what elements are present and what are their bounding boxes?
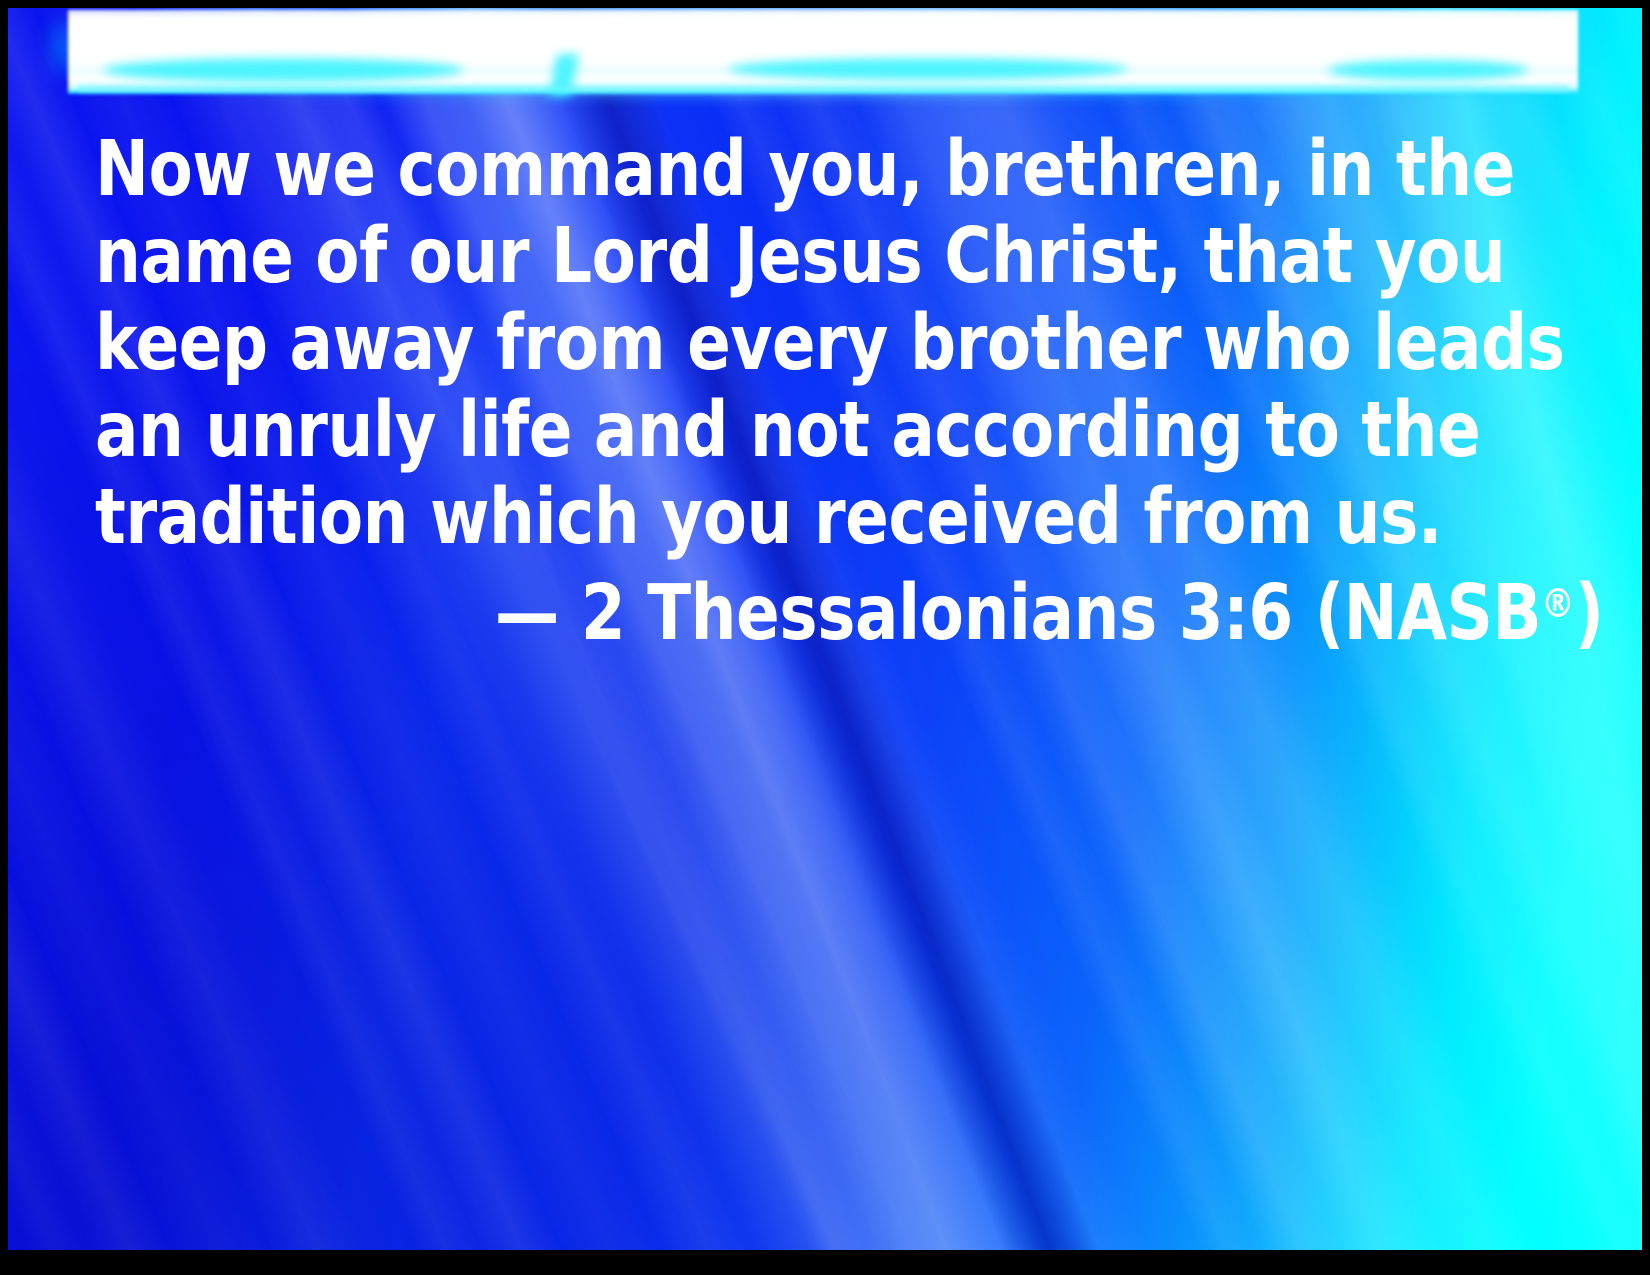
slide-canvas: Now we command you, brethren, in the nam…: [8, 8, 1642, 1250]
verse-citation: — 2 Thessalonians 3:6 (NASB®): [95, 561, 1471, 657]
verse-line-1: Now we command you, brethren, in the: [95, 126, 1471, 213]
verse-line-5: tradition which you received from us.: [95, 474, 1471, 561]
citation-suffix: ): [1575, 569, 1604, 658]
verse-line-3: keep away from every brother who leads: [95, 300, 1471, 387]
verse-slide: Now we command you, brethren, in the nam…: [0, 0, 1650, 1275]
top-band-accent-1: [103, 58, 463, 82]
verse-text-block: Now we command you, brethren, in the nam…: [95, 126, 1575, 657]
top-band-underglow: [78, 86, 1568, 94]
citation-prefix: — 2 Thessalonians 3:6 (NASB: [495, 569, 1541, 658]
verse-line-2: name of our Lord Jesus Christ, that you: [95, 213, 1471, 300]
registered-trademark-icon: ®: [1541, 581, 1575, 627]
top-band-accent-4: [1328, 60, 1528, 80]
verse-line-4: an unruly life and not according to the: [95, 387, 1471, 474]
top-band-accent-3: [728, 58, 1128, 80]
